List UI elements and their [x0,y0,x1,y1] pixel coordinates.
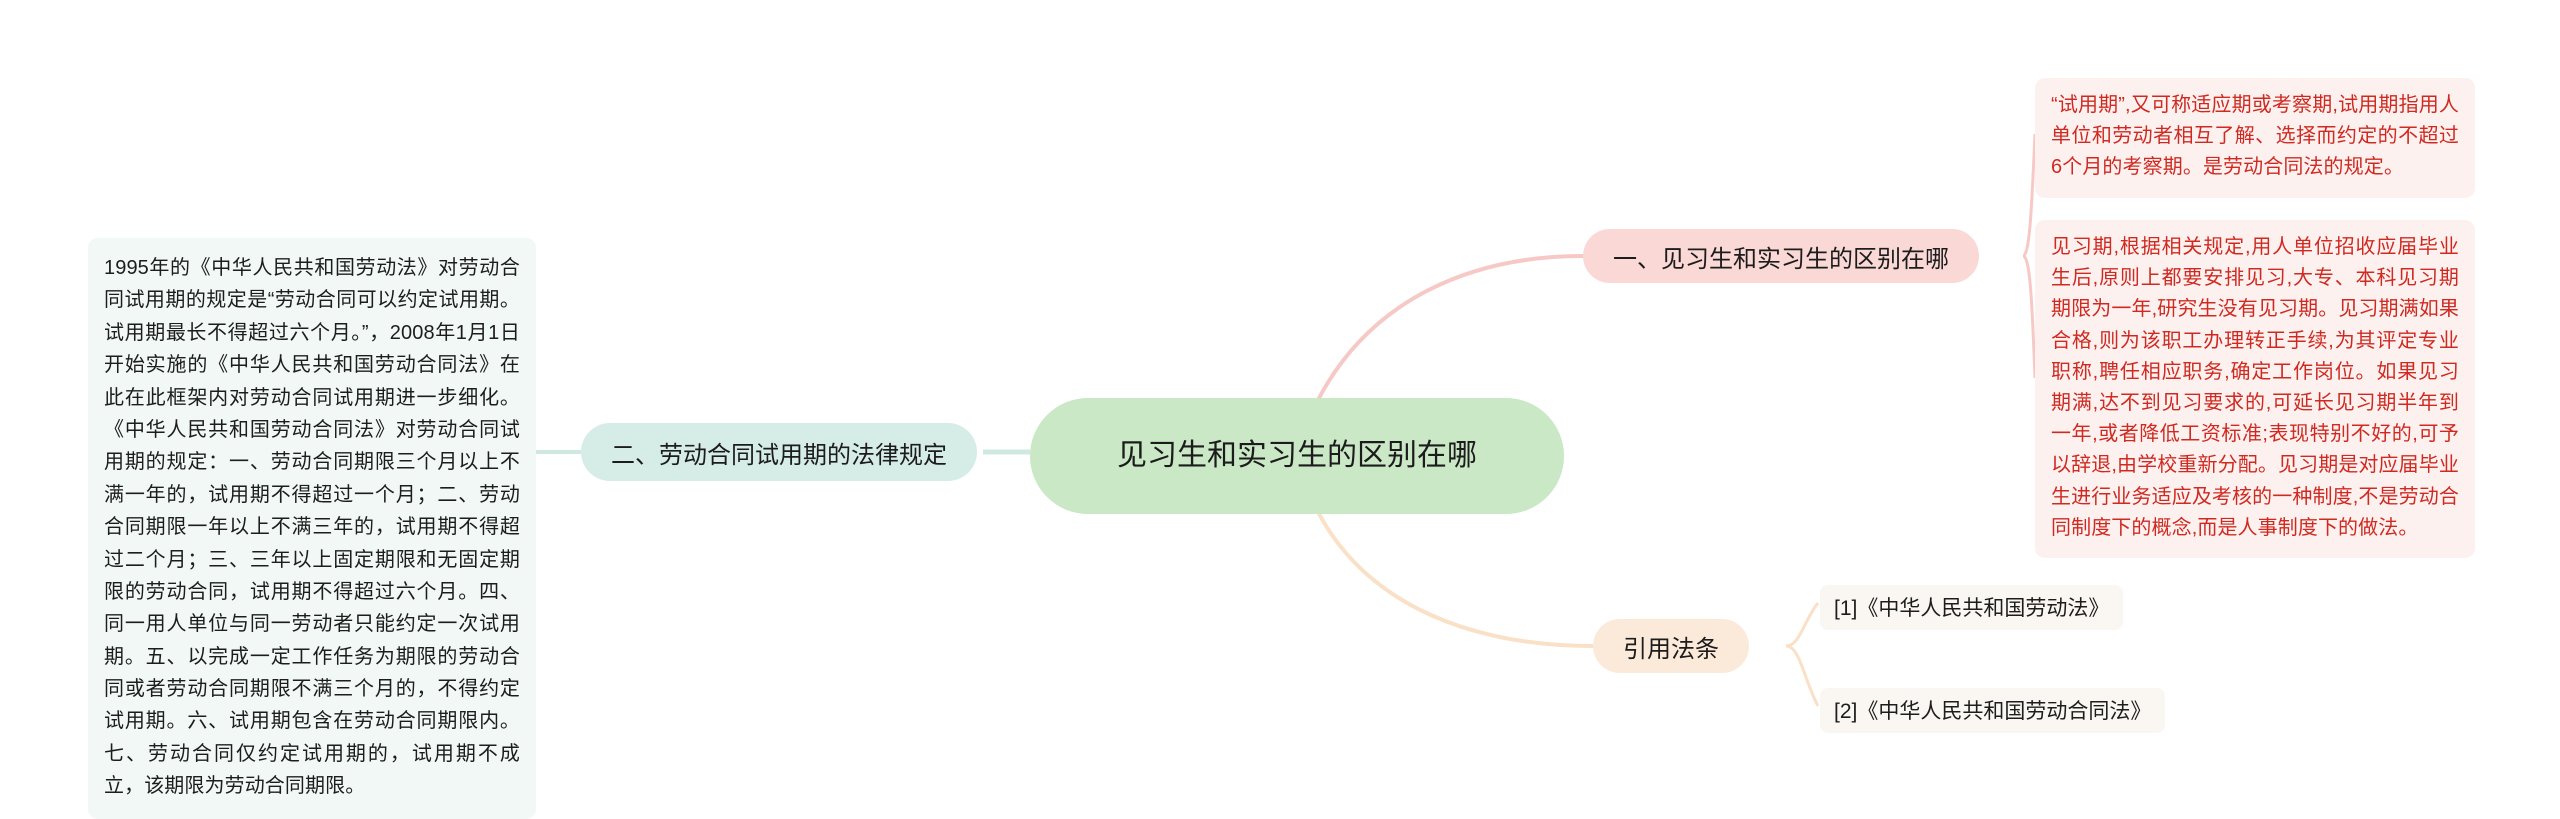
connector-root-branch1 [1318,256,1583,400]
note-panel-probation: “试用期”,又可称适应期或考察期,试用期指用人单位和劳动者相互了解、选择而约定的… [2035,78,2475,198]
citation-item-1[interactable]: [1]《中华人民共和国劳动法》 [1820,585,2123,630]
connector-branch1-note1 [2023,134,2035,256]
branch-node-citations[interactable]: 引用法条 [1593,619,1749,673]
citation-item-2[interactable]: [2]《中华人民共和国劳动合同法》 [1820,688,2165,733]
mindmap-canvas: 1995年的《中华人民共和国劳动法》对劳动合同试用期的规定是“劳动合同可以约定试… [0,0,2560,802]
left-detail-panel: 1995年的《中华人民共和国劳动法》对劳动合同试用期的规定是“劳动合同可以约定试… [88,238,536,819]
branch-node-difference[interactable]: 一、见习生和实习生的区别在哪 [1583,229,1979,283]
connector-citations-item1 [1786,603,1818,646]
branch-node-legal-provisions[interactable]: 二、劳动合同试用期的法律规定 [581,423,977,481]
connector-branch1-note2 [2023,256,2035,378]
root-node[interactable]: 见习生和实习生的区别在哪 [1030,398,1564,514]
connector-root-citations [1318,512,1593,646]
note-panel-internship: 见习期,根据相关规定,用人单位招收应届毕业生后,原则上都要安排见习,大专、本科见… [2035,220,2475,558]
connector-citations-item2 [1786,646,1818,706]
